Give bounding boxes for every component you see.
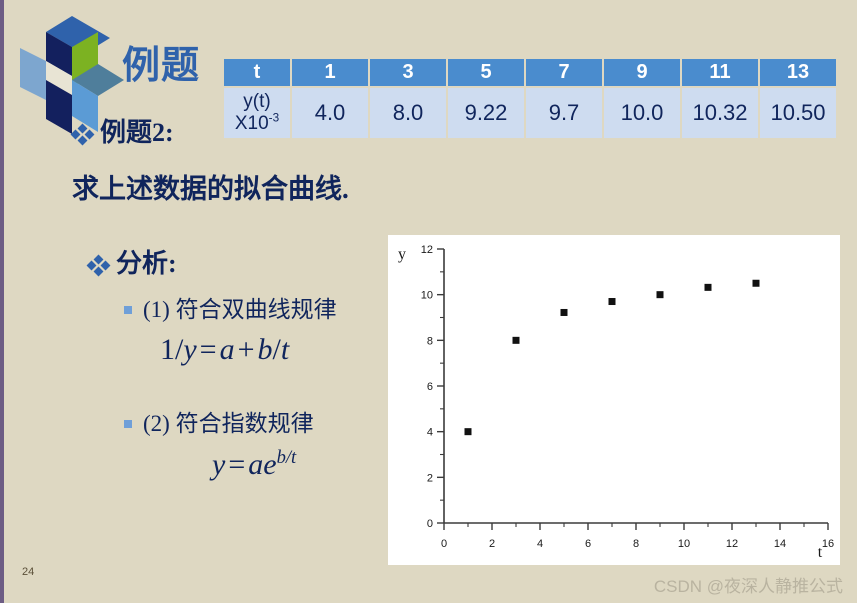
chart-y-tick-label: 0 [427, 518, 433, 530]
page-title: 例题 [122, 34, 200, 89]
row-label-line1: y(t) [243, 91, 270, 112]
formula-var-a: a [248, 448, 263, 481]
chart-y-tick-label: 4 [427, 427, 433, 439]
formula-var-y: y [212, 448, 225, 481]
chart-y-tick-label: 10 [421, 290, 433, 302]
formula-var-b: b [258, 333, 273, 366]
formula-equals: = [225, 448, 248, 481]
table-header-cell: 9 [604, 59, 680, 86]
slide-left-edge-strip [0, 0, 4, 603]
chart-x-tick-label: 4 [537, 538, 543, 550]
analysis-heading-label: 分析: [116, 249, 177, 278]
square-bullet-icon [124, 420, 132, 428]
chart-y-tick-label: 2 [427, 472, 433, 484]
formula-exponent: b/t [277, 447, 297, 468]
chart-y-axis-title: y [398, 246, 406, 263]
formula-var-e: e [263, 448, 276, 481]
chart-data-point [657, 291, 664, 298]
chart-x-tick-label: 6 [585, 538, 591, 550]
chart-x-tick-label: 10 [678, 538, 690, 550]
chart-data-point [753, 280, 760, 287]
diamond-bullet-icon [88, 256, 110, 274]
table-header-cell: 1 [292, 59, 368, 86]
table-cell: 10.50 [760, 88, 836, 138]
analysis-point-2-label: (2) 符合指数规律 [143, 411, 314, 436]
chart-x-tick-label: 14 [774, 538, 786, 550]
formula-exponential: y=aeb/t [212, 447, 296, 482]
diamond-bullet-icon [72, 125, 94, 143]
table-cell: 9.22 [448, 88, 524, 138]
watermark: CSDN @夜深人静推公式 [654, 572, 843, 597]
formula-slash: / [273, 333, 281, 366]
chart-x-tick-label: 0 [441, 538, 447, 550]
analysis-point-1: (1) 符合双曲线规律 [124, 290, 337, 324]
formula-var-t: t [281, 333, 289, 366]
data-table: t 1 3 5 7 9 11 13 y(t) X10-3 4.0 8.0 9.2… [222, 57, 838, 140]
formula-lhs: 1/ [160, 333, 183, 366]
row-label-line2: X10-3 [235, 113, 279, 134]
chart-x-tick-label: 2 [489, 538, 495, 550]
chart-tick-labels: 0246810120246810121416 [421, 244, 834, 550]
chart-y-tick-label: 12 [421, 244, 433, 256]
chart-axes [437, 249, 828, 530]
table-header-cell: 11 [682, 59, 758, 86]
table-header-cell: 7 [526, 59, 602, 86]
table-cell: 4.0 [292, 88, 368, 138]
chart-x-axis-title: t [818, 544, 823, 561]
chart-data-point [705, 284, 712, 291]
table-cell: 9.7 [526, 88, 602, 138]
example-heading-label: 例题2: [100, 118, 174, 147]
question-line: 求上述数据的拟合曲线. [72, 167, 349, 206]
chart-x-tick-label: 16 [822, 538, 834, 550]
table-cell: 8.0 [370, 88, 446, 138]
example-heading: 例题2: [72, 112, 174, 149]
table-header-cell: 5 [448, 59, 524, 86]
chart-x-tick-label: 8 [633, 538, 639, 550]
chart-data-point [609, 298, 616, 305]
chart-x-tick-label: 12 [726, 538, 738, 550]
chart-y-tick-label: 8 [427, 335, 433, 347]
page-number: 24 [22, 566, 34, 578]
table-row-label: y(t) X10-3 [224, 88, 290, 138]
formula-plus: + [235, 333, 258, 366]
chart-data-point [561, 309, 568, 316]
table-data-row: y(t) X10-3 4.0 8.0 9.22 9.7 10.0 10.32 1… [224, 88, 836, 138]
analysis-point-1-label: (1) 符合双曲线规律 [143, 297, 337, 322]
table-header-cell: 3 [370, 59, 446, 86]
formula-var-y: y [183, 333, 196, 366]
formula-var-a: a [220, 333, 235, 366]
table-header-cell: 13 [760, 59, 836, 86]
square-bullet-icon [124, 306, 132, 314]
chart-y-tick-label: 6 [427, 381, 433, 393]
formula-hyperbolic: 1/y=a+b/t [160, 333, 289, 367]
slide-canvas: 例题 t 1 3 5 7 9 11 13 y(t) X10-3 4.0 8.0 … [0, 0, 857, 603]
table-cell: 10.32 [682, 88, 758, 138]
chart-data-point [465, 428, 472, 435]
analysis-heading: 分析: [88, 243, 177, 280]
scatter-chart: 0246810120246810121416 y t [388, 235, 840, 565]
table-header-cell-t: t [224, 59, 290, 86]
table-cell: 10.0 [604, 88, 680, 138]
table-header-row: t 1 3 5 7 9 11 13 [224, 59, 836, 86]
chart-data-point [513, 337, 520, 344]
chart-data-points [465, 280, 760, 435]
formula-equals: = [197, 333, 220, 366]
analysis-point-2: (2) 符合指数规律 [124, 404, 314, 438]
scatter-chart-panel: 0246810120246810121416 y t [388, 235, 840, 565]
